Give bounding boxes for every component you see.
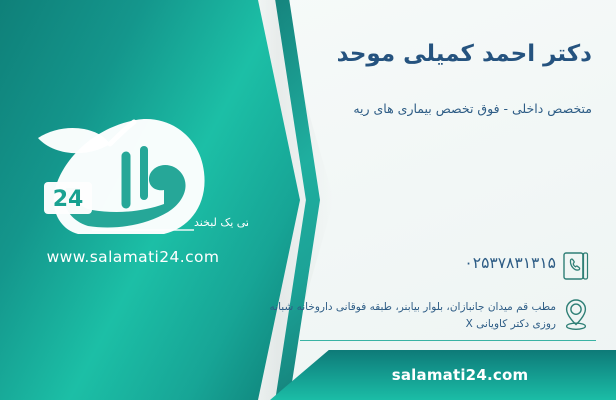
address-line-2: روزی دکتر کاویانی X (260, 316, 556, 333)
address-row[interactable]: مطب قم میدان جانبازان، بلوار بیابنر، طبق… (256, 294, 596, 334)
brand-logo: 24 براحتی یک لبخند www.salamati24.com (18, 100, 248, 280)
footer-divider (300, 340, 596, 341)
contact-info-block: ۰۲۵۳۷۸۳۱۳۱۵ مطب قم میدان جانبازان، بلوار… (256, 246, 596, 342)
phone-row[interactable]: ۰۲۵۳۷۸۳۱۳۱۵ (256, 246, 596, 286)
logo-badge-24: 24 (53, 187, 84, 212)
clinic-address: مطب قم میدان جانبازان، بلوار بیابنر، طبق… (256, 294, 556, 333)
doctor-specialty: متخصص داخلی - فوق تخصص بیماری های ریه (262, 100, 592, 119)
phone-book-icon (556, 246, 596, 286)
address-line-1: مطب قم میدان جانبازان، بلوار بیابنر، طبق… (260, 299, 556, 316)
business-card: 24 براحتی یک لبخند www.salamati24.com دک… (0, 0, 616, 400)
footer-website-url: salamati24.com (392, 366, 529, 384)
location-pin-icon (556, 294, 596, 334)
phone-number: ۰۲۵۳۷۸۳۱۳۱۵ (256, 246, 556, 272)
doctor-name: دکتر احمد کمیلی موحد (262, 40, 592, 69)
salamati24-logo-graphic: 24 براحتی یک لبخند (18, 100, 248, 250)
footer-bar[interactable]: salamati24.com (270, 350, 616, 400)
logo-tagline: براحتی یک لبخند (194, 216, 248, 229)
logo-website-url: www.salamati24.com (18, 248, 248, 266)
